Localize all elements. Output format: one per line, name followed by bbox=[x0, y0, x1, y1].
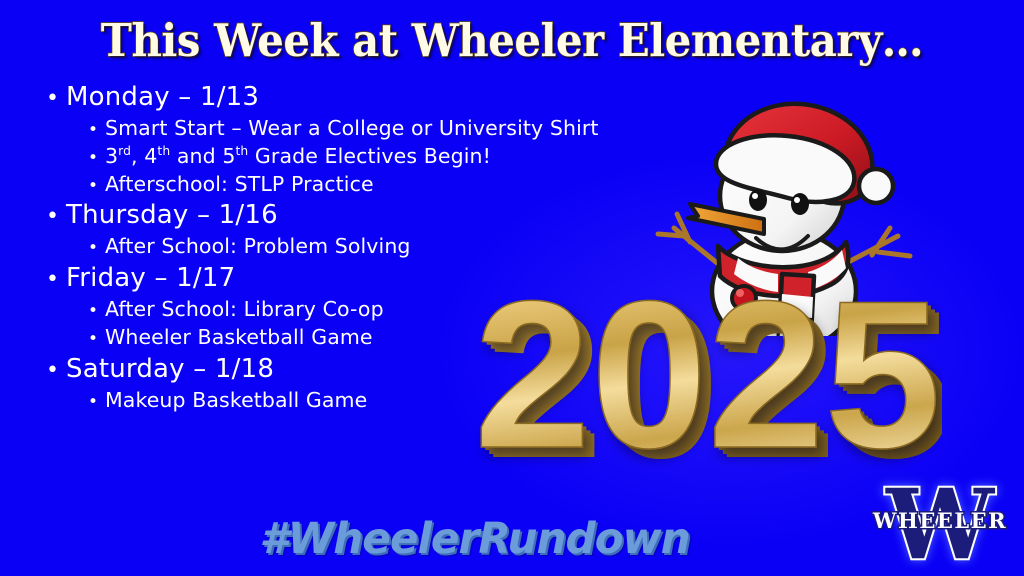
bullet-glyph: • bbox=[88, 237, 105, 260]
bullet-glyph: • bbox=[46, 202, 66, 231]
bullet-glyph: • bbox=[46, 356, 66, 385]
bullet-glyph: • bbox=[88, 119, 105, 142]
bullet-glyph: • bbox=[46, 265, 66, 294]
schedule-item: •After School: Problem Solving bbox=[40, 233, 680, 261]
schedule-item-label: 3rd, 4th and 5th Grade Electives Begin! bbox=[105, 143, 491, 171]
wheeler-logo: W WHEELER bbox=[862, 470, 1018, 570]
schedule-item-label: After School: Problem Solving bbox=[105, 233, 411, 261]
schedule-item: •3rd, 4th and 5th Grade Electives Begin! bbox=[40, 143, 680, 171]
slide-canvas: This Week at Wheeler Elementary… •Monday… bbox=[0, 0, 1024, 576]
snowman-eye-left bbox=[749, 189, 767, 211]
bullet-glyph: • bbox=[88, 175, 105, 198]
bullet-glyph: • bbox=[88, 300, 105, 323]
schedule-day-label: Saturday – 1/18 bbox=[66, 352, 274, 387]
bullet-glyph: • bbox=[46, 84, 66, 113]
year-2025-graphic: 2025 2025 2025 2025 bbox=[462, 272, 942, 482]
schedule-item-label: Smart Start – Wear a College or Universi… bbox=[105, 115, 599, 143]
schedule-item-label: Wheeler Basketball Game bbox=[105, 324, 373, 352]
schedule-item-label: Afterschool: STLP Practice bbox=[105, 171, 374, 199]
schedule-item: •Afterschool: STLP Practice bbox=[40, 171, 680, 199]
schedule-day-label: Monday – 1/13 bbox=[66, 80, 259, 115]
schedule-day-label: Thursday – 1/16 bbox=[66, 198, 278, 233]
schedule-day: •Monday – 1/13 bbox=[40, 80, 680, 115]
bullet-glyph: • bbox=[88, 391, 105, 414]
bullet-glyph: • bbox=[88, 147, 105, 170]
logo-wordmark: WHEELER bbox=[872, 508, 1007, 533]
page-title: This Week at Wheeler Elementary… bbox=[36, 14, 988, 67]
schedule-day-label: Friday – 1/17 bbox=[66, 261, 235, 296]
schedule-item-label: After School: Library Co-op bbox=[105, 296, 384, 324]
hashtag-text: #WheelerRundown bbox=[259, 514, 689, 564]
year-text: 2025 bbox=[474, 272, 941, 482]
snowman-eye-right bbox=[791, 193, 809, 215]
bullet-glyph: • bbox=[88, 328, 105, 351]
schedule-day: •Thursday – 1/16 bbox=[40, 198, 680, 233]
schedule-item-label: Makeup Basketball Game bbox=[105, 387, 367, 415]
schedule-item: •Smart Start – Wear a College or Univers… bbox=[40, 115, 680, 143]
